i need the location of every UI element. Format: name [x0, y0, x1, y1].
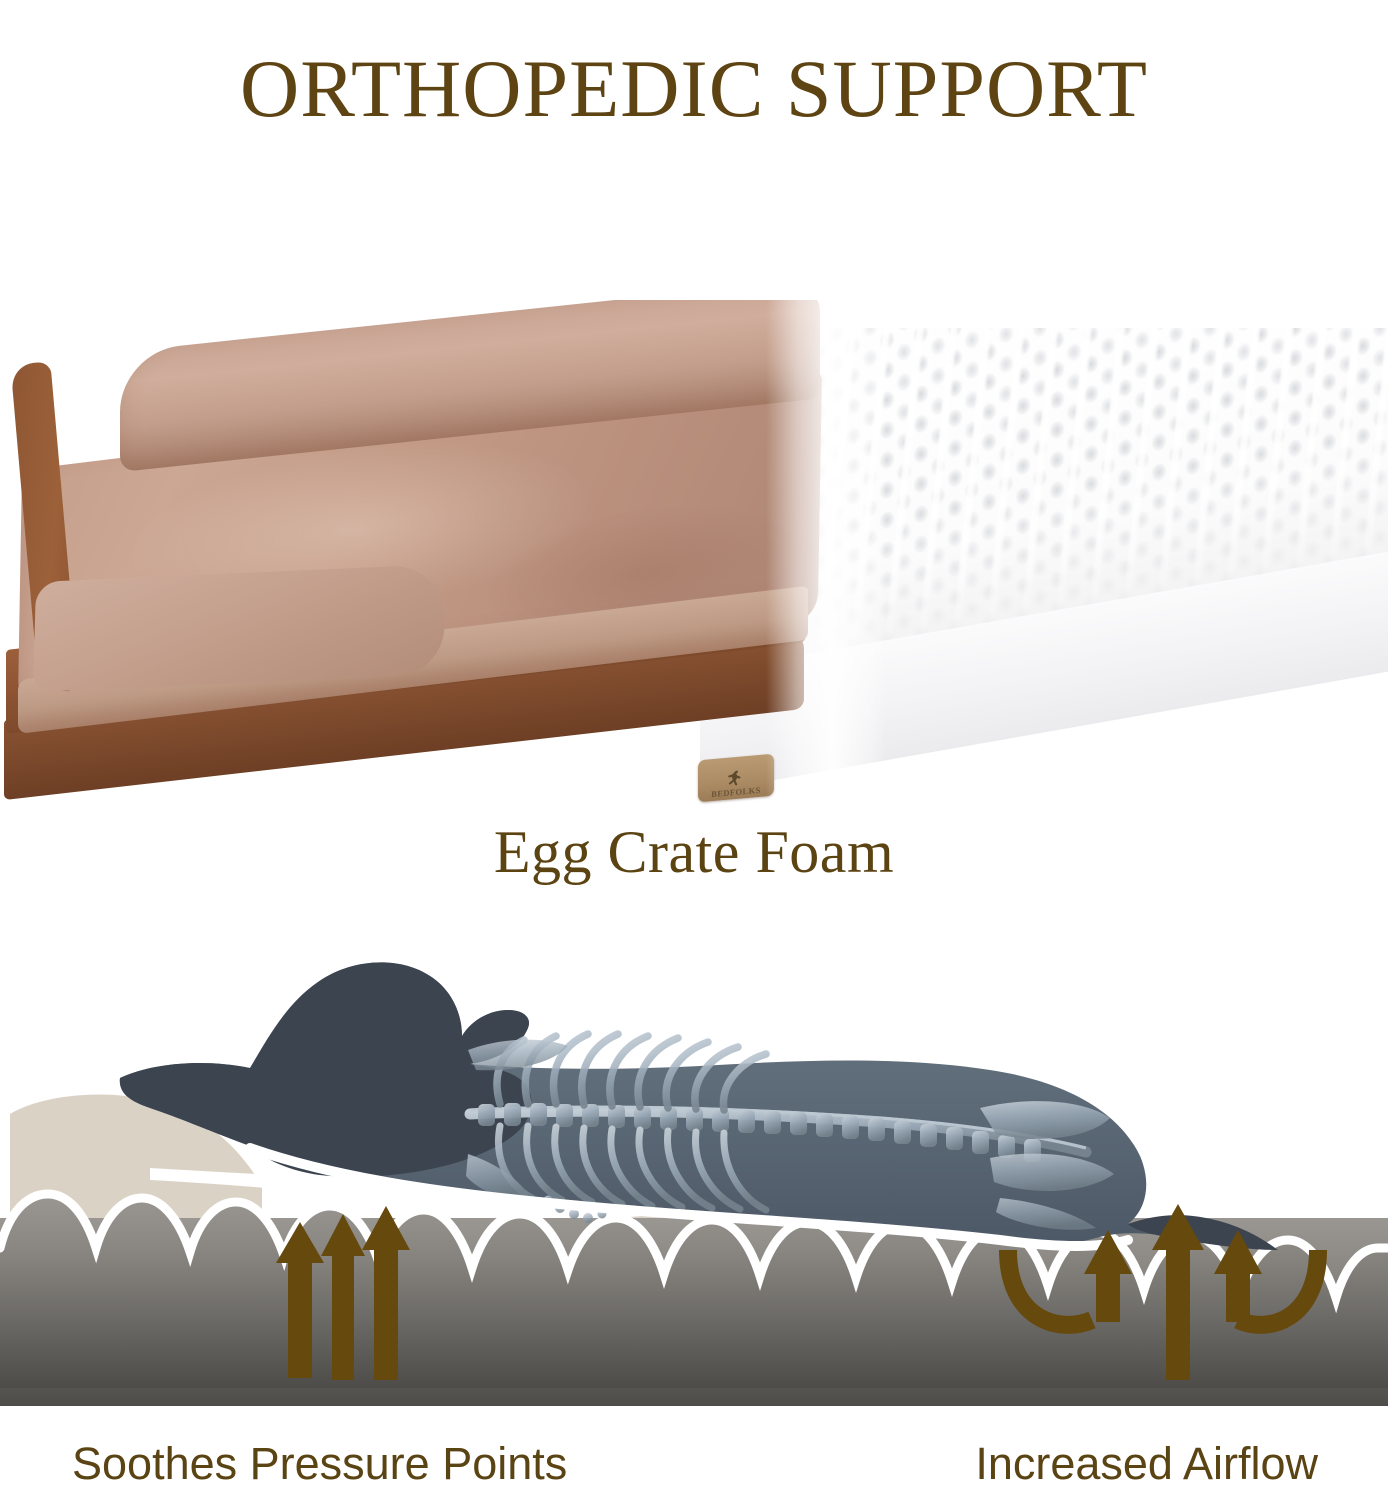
egg-crate-foam-caption: Egg Crate Foam [0, 818, 1388, 887]
product-photo-band: BEDFOLKS [0, 300, 1388, 810]
bed-bolster-flap [33, 564, 446, 692]
label-soothes-pressure-points: Soothes Pressure Points [72, 1438, 567, 1490]
label-increased-airflow: Increased Airflow [975, 1438, 1318, 1490]
brand-tag-label: BEDFOLKS [711, 785, 761, 798]
feature-labels: Soothes Pressure Points Increased Airflo… [0, 1438, 1388, 1500]
dog-figure-icon [725, 768, 747, 788]
brand-tag: BEDFOLKS [698, 754, 774, 803]
pressure-point-arrows [276, 1206, 410, 1380]
page-title: ORTHOPEDIC SUPPORT [0, 46, 1388, 132]
orthopedic-dog-bed: BEDFOLKS [0, 320, 840, 810]
cross-section-diagram [0, 918, 1388, 1418]
